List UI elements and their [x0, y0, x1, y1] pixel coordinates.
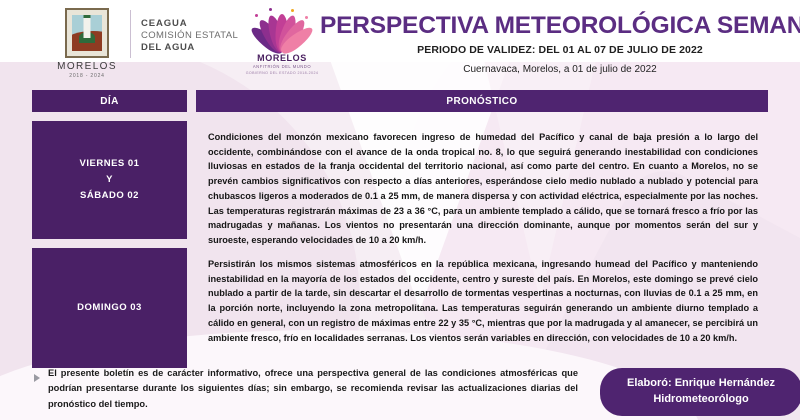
tower-shape [84, 15, 91, 38]
day-line: DOMINGO 03 [77, 300, 142, 316]
table-row: VIERNES 01 Y SÁBADO 02 Condiciones del m… [32, 121, 768, 239]
validity-period: PERIODO DE VALIDEZ: DEL 01 AL 07 DE JULI… [320, 44, 800, 56]
day-line: SÁBADO 02 [80, 188, 140, 204]
flower-fan-icon [247, 8, 317, 52]
day-line: Y [80, 172, 140, 188]
forecast-cell: Condiciones del monzón mexicano favorece… [196, 121, 768, 239]
brand-logo-tagline: ANFITRIÓN DEL MUNDO [243, 64, 321, 69]
coat-of-arms-field [72, 15, 102, 51]
coat-of-arms-icon [65, 8, 109, 58]
document-page: MORELOS 2018 - 2024 CEAGUA COMISIÓN ESTA… [0, 0, 800, 420]
table-header-row: DÍA PRONÓSTICO [32, 90, 768, 112]
cell-gap [187, 248, 196, 368]
header-divider [130, 10, 131, 58]
disclaimer-text: El presente boletín es de carácter infor… [48, 366, 578, 412]
morelos-brand-logo: MORELOS ANFITRIÓN DEL MUNDO GOBIERNO DEL… [243, 8, 321, 76]
ceagua-acronym: CEAGUA [141, 18, 238, 30]
brand-logo-subtitle: GOBIERNO DEL ESTADO 2018-2024 [243, 71, 321, 76]
page-title: PERSPECTIVA METEOROLÓGICA SEMANAL [320, 12, 800, 40]
author-role: Hidrometeorólogo [606, 392, 796, 408]
cell-gap [187, 121, 196, 239]
brand-logo-name: MORELOS [243, 53, 321, 63]
header-gap [187, 90, 196, 112]
document-header: MORELOS 2018 - 2024 CEAGUA COMISIÓN ESTA… [0, 0, 800, 90]
author-badge: Elaboró: Enrique Hernández Hidrometeoról… [600, 368, 800, 416]
ceagua-name-line1: COMISIÓN ESTATAL [141, 30, 238, 42]
author-name: Elaboró: Enrique Hernández [606, 376, 796, 392]
forecast-cell: Persistirán los mismos sistemas atmosfér… [196, 248, 768, 368]
place-and-date: Cuernavaca, Morelos, a 01 de julio de 20… [320, 64, 800, 75]
morelos-crest-logo: MORELOS 2018 - 2024 [48, 8, 126, 79]
day-cell: VIERNES 01 Y SÁBADO 02 [32, 121, 187, 239]
crest-years: 2018 - 2024 [48, 73, 126, 79]
ceagua-agency-block: CEAGUA COMISIÓN ESTATAL DEL AGUA [141, 18, 238, 54]
column-header-day: DÍA [32, 90, 187, 112]
row-spacer [32, 112, 768, 121]
forecast-table: DÍA PRONÓSTICO VIERNES 01 Y SÁBADO 02 Co… [32, 90, 768, 368]
table-row: DOMINGO 03 Persistirán los mismos sistem… [32, 248, 768, 368]
triangle-bullet-icon [34, 374, 40, 382]
column-header-forecast: PRONÓSTICO [196, 90, 768, 112]
crest-name: MORELOS [48, 61, 126, 72]
day-cell: DOMINGO 03 [32, 248, 187, 368]
day-line: VIERNES 01 [80, 156, 140, 172]
ceagua-name-line2: DEL AGUA [141, 42, 238, 54]
